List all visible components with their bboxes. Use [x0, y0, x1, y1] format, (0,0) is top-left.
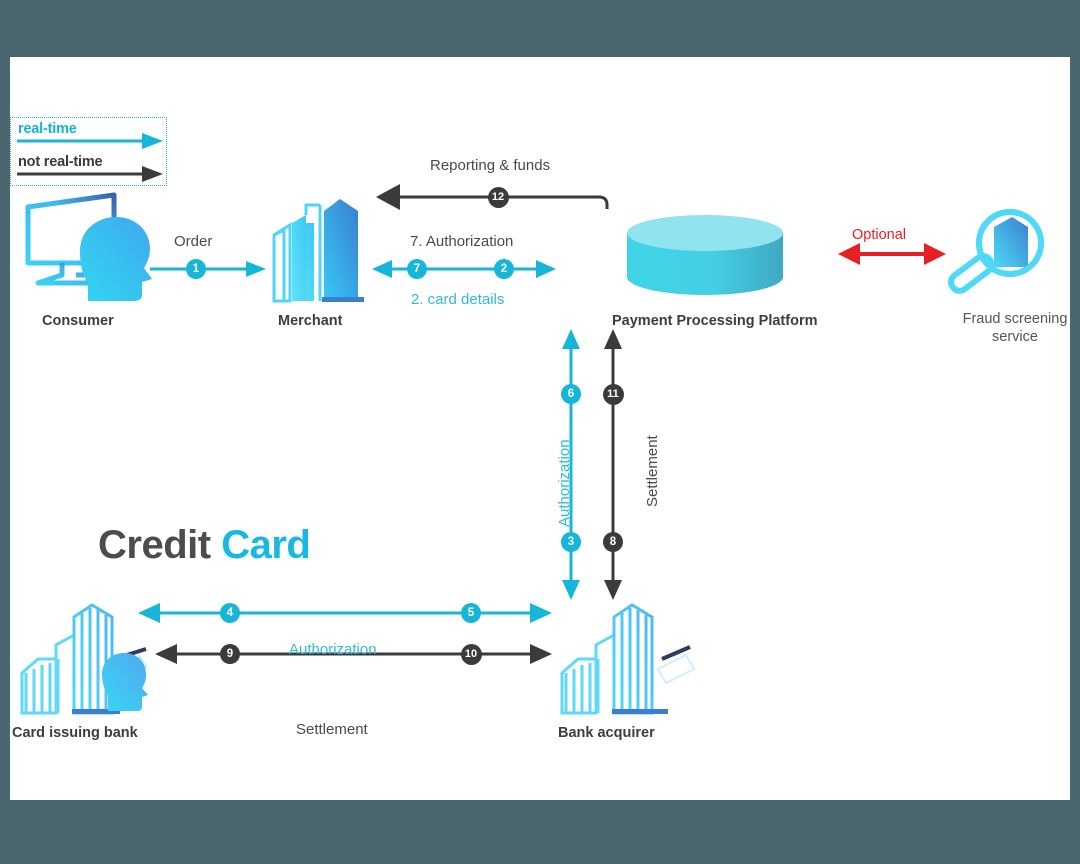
- flow-label-order: Order: [174, 233, 212, 250]
- arrow-auth-card-head-right: [536, 260, 556, 278]
- arrow-order-head: [246, 261, 266, 277]
- flow-label-card-details: 2. card details: [411, 291, 504, 308]
- arrow-auth-vertical-head-up: [562, 329, 580, 349]
- step-badge-2: 2: [494, 259, 514, 279]
- arrow-reporting-funds-head: [376, 184, 400, 210]
- arrow-auth-horizontal-head-left: [138, 603, 160, 623]
- arrow-auth-card-head-left: [372, 260, 392, 278]
- flow-label-authorization-merchant: 7. Authorization: [410, 233, 513, 250]
- step-badge-3: 3: [561, 532, 581, 552]
- arrow-optional-head-right: [924, 243, 946, 265]
- step-badge-7: 7: [407, 259, 427, 279]
- step-badge-9: 9: [220, 644, 240, 664]
- arrow-settlement-horizontal-head-right: [530, 644, 552, 664]
- step-badge-5: 5: [461, 603, 481, 623]
- flow-label-reporting-funds: Reporting & funds: [430, 157, 550, 174]
- flow-label-settlement-vertical: Settlement: [644, 435, 661, 507]
- step-badge-11: 11: [603, 384, 624, 405]
- step-badge-12: 12: [488, 187, 509, 208]
- arrow-settlement-vertical-head-up: [604, 329, 622, 349]
- arrow-auth-vertical-head-down: [562, 580, 580, 600]
- flow-label-optional: Optional: [852, 227, 906, 243]
- flow-label-authorization-vertical: Authorization: [556, 439, 573, 527]
- step-badge-1: 1: [186, 259, 206, 279]
- flow-label-settlement-horizontal: Settlement: [296, 721, 368, 738]
- diagram-canvas: real-time not real-time: [8, 57, 1072, 800]
- arrow-auth-horizontal-head-right: [530, 603, 552, 623]
- arrow-settlement-vertical-head-down: [604, 580, 622, 600]
- step-badge-4: 4: [220, 603, 240, 623]
- arrow-settlement-horizontal-head-left: [155, 644, 177, 664]
- flow-label-authorization-horizontal: Authorization: [289, 641, 377, 658]
- step-badge-6: 6: [561, 384, 581, 404]
- step-badge-8: 8: [603, 532, 623, 552]
- arrow-optional-head-left: [838, 243, 860, 265]
- diagram-stage: real-time not real-time: [0, 0, 1080, 864]
- step-badge-10: 10: [461, 644, 482, 665]
